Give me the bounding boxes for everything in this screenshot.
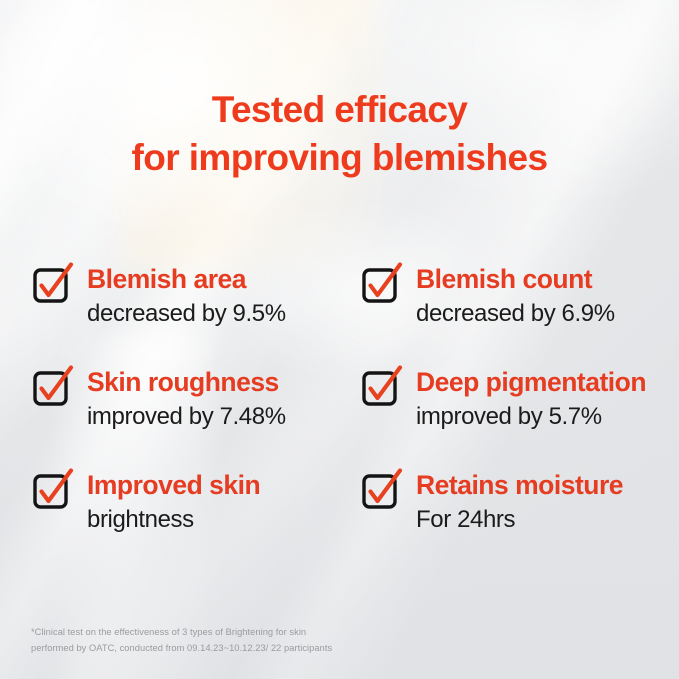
benefit-detail: For 24hrs (416, 505, 623, 535)
benefit-heading: Skin roughness (87, 367, 286, 398)
benefit-item-blemish-area: Blemish area decreased by 9.5% (34, 264, 286, 329)
benefit-text: Improved skin brightness (87, 470, 260, 535)
checkbox-checked-icon (34, 475, 65, 506)
footnote: *Clinical test on the effectiveness of 3… (31, 625, 332, 656)
benefit-text: Deep pigmentation improved by 5.7% (416, 367, 646, 432)
benefit-heading: Improved skin (87, 470, 260, 501)
footnote-line-1: *Clinical test on the effectiveness of 3… (31, 625, 332, 641)
checkbox-checked-icon (363, 269, 394, 300)
benefit-text: Blemish area decreased by 9.5% (87, 264, 286, 329)
benefit-text: Skin roughness improved by 7.48% (87, 367, 286, 432)
page-title: Tested efficacy for improving blemishes (0, 86, 679, 182)
checkbox-checked-icon (363, 475, 394, 506)
promo-panel: Tested efficacy for improving blemishes … (0, 0, 679, 679)
benefit-item-improved-skin-brightness: Improved skin brightness (34, 470, 260, 535)
benefits-grid: Blemish area decreased by 9.5% Blemish c… (0, 264, 679, 573)
page-title-line-1: Tested efficacy (0, 86, 679, 134)
benefit-detail: brightness (87, 505, 260, 535)
benefit-detail: decreased by 6.9% (416, 299, 615, 329)
benefit-heading: Blemish area (87, 264, 286, 295)
checkbox-checked-icon (34, 372, 65, 403)
benefit-item-retains-moisture: Retains moisture For 24hrs (363, 470, 623, 535)
benefit-heading: Blemish count (416, 264, 615, 295)
benefit-text: Retains moisture For 24hrs (416, 470, 623, 535)
benefit-text: Blemish count decreased by 6.9% (416, 264, 615, 329)
benefit-item-skin-roughness: Skin roughness improved by 7.48% (34, 367, 286, 432)
benefit-detail: decreased by 9.5% (87, 299, 286, 329)
benefit-heading: Retains moisture (416, 470, 623, 501)
benefits-row: Skin roughness improved by 7.48% Deep pi… (0, 367, 679, 470)
checkbox-checked-icon (34, 269, 65, 300)
page-title-line-2: for improving blemishes (0, 134, 679, 182)
benefit-detail: improved by 5.7% (416, 402, 646, 432)
benefits-row: Blemish area decreased by 9.5% Blemish c… (0, 264, 679, 367)
benefit-detail: improved by 7.48% (87, 402, 286, 432)
benefit-heading: Deep pigmentation (416, 367, 646, 398)
footnote-line-2: performed by OATC, conducted from 09.14.… (31, 641, 332, 657)
benefit-item-deep-pigmentation: Deep pigmentation improved by 5.7% (363, 367, 646, 432)
benefit-item-blemish-count: Blemish count decreased by 6.9% (363, 264, 615, 329)
checkbox-checked-icon (363, 372, 394, 403)
benefits-row: Improved skin brightness Retains moistur… (0, 470, 679, 573)
